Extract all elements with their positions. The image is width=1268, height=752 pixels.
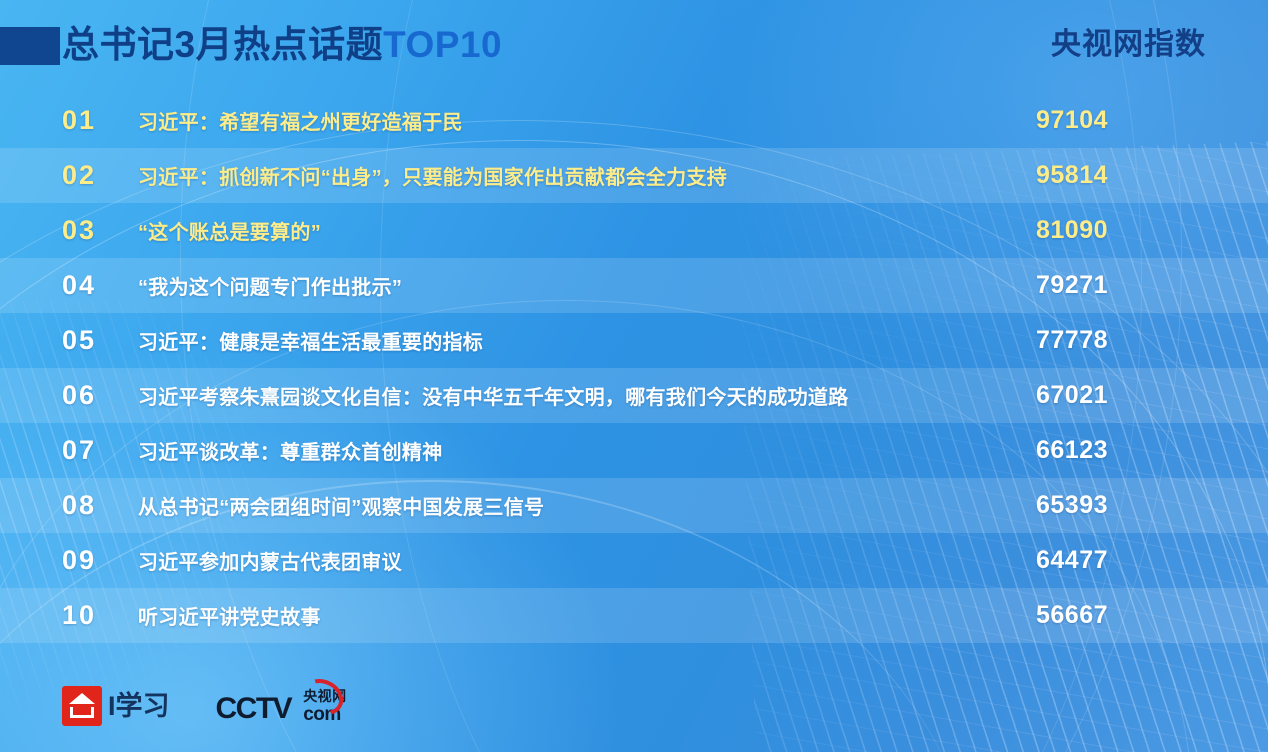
ranking-row[interactable]: 03“这个账总是要算的”81090 bbox=[0, 203, 1268, 258]
row-title[interactable]: 习近平：希望有福之州更好造福于民 bbox=[138, 106, 1036, 135]
row-index-value: 77778 bbox=[1036, 326, 1206, 355]
ranking-row[interactable]: 09习近平参加内蒙古代表团审议64477 bbox=[0, 533, 1268, 588]
row-rank: 07 bbox=[62, 435, 138, 466]
poster-header: 总书记3月热点话题TOP10 央视网指数 bbox=[0, 0, 1268, 88]
row-rank: 09 bbox=[62, 545, 138, 576]
ranking-row[interactable]: 02习近平：抓创新不问“出身”，只要能为国家作出贡献都会全力支持95814 bbox=[0, 148, 1268, 203]
page-title-top10: TOP10 bbox=[383, 24, 502, 65]
row-index-value: 56667 bbox=[1036, 601, 1206, 630]
page-title: 总书记3月热点话题TOP10 bbox=[62, 18, 502, 72]
row-title[interactable]: 听习近平讲党史故事 bbox=[138, 601, 1036, 630]
row-index-value: 79271 bbox=[1036, 271, 1206, 300]
metric-column-header: 央视网指数 bbox=[1051, 22, 1206, 68]
ranking-row[interactable]: 05习近平：健康是幸福生活最重要的指标77778 bbox=[0, 313, 1268, 368]
row-rank: 03 bbox=[62, 215, 138, 246]
row-rank: 06 bbox=[62, 380, 138, 411]
row-title[interactable]: “这个账总是要算的” bbox=[138, 216, 1036, 245]
page-title-cn: 总书记3月热点话题 bbox=[62, 24, 383, 65]
header-accent-block bbox=[0, 27, 60, 65]
ranking-row[interactable]: 10听习近平讲党史故事56667 bbox=[0, 588, 1268, 643]
xuexi-logo[interactable]: I学习 bbox=[62, 686, 170, 726]
ranking-row[interactable]: 07习近平谈改革：尊重群众首创精神66123 bbox=[0, 423, 1268, 478]
row-title[interactable]: 习近平参加内蒙古代表团审议 bbox=[138, 546, 1036, 575]
row-title[interactable]: 习近平：抓创新不问“出身”，只要能为国家作出贡献都会全力支持 bbox=[138, 161, 1036, 190]
row-index-value: 97104 bbox=[1036, 106, 1206, 135]
footer-logos: I学习 CCTV 央视网 com bbox=[62, 686, 347, 726]
row-title[interactable]: 习近平：健康是幸福生活最重要的指标 bbox=[138, 326, 1036, 355]
row-title[interactable]: 从总书记“两会团组时间”观察中国发展三信号 bbox=[138, 491, 1036, 520]
row-rank: 08 bbox=[62, 490, 138, 521]
row-title[interactable]: 习近平谈改革：尊重群众首创精神 bbox=[138, 436, 1036, 465]
infographic-poster: 总书记3月热点话题TOP10 央视网指数 01习近平：希望有福之州更好造福于民9… bbox=[0, 0, 1268, 752]
row-rank: 01 bbox=[62, 105, 138, 136]
row-rank: 02 bbox=[62, 160, 138, 191]
cctv-logo[interactable]: CCTV 央视网 com bbox=[216, 689, 347, 724]
cctv-wordmark: CCTV bbox=[216, 694, 292, 724]
row-index-value: 66123 bbox=[1036, 436, 1206, 465]
row-rank: 05 bbox=[62, 325, 138, 356]
row-index-value: 81090 bbox=[1036, 216, 1206, 245]
row-index-value: 64477 bbox=[1036, 546, 1206, 575]
row-rank: 10 bbox=[62, 600, 138, 631]
row-title[interactable]: 习近平考察朱熹园谈文化自信：没有中华五千年文明，哪有我们今天的成功道路 bbox=[138, 381, 1036, 410]
ranking-row[interactable]: 04“我为这个问题专门作出批示”79271 bbox=[0, 258, 1268, 313]
ranking-row[interactable]: 01习近平：希望有福之州更好造福于民97104 bbox=[0, 93, 1268, 148]
row-index-value: 65393 bbox=[1036, 491, 1206, 520]
row-rank: 04 bbox=[62, 270, 138, 301]
row-index-value: 67021 bbox=[1036, 381, 1206, 410]
xuexi-mark-icon bbox=[62, 686, 102, 726]
xuexi-logo-label: I学习 bbox=[108, 690, 170, 722]
row-index-value: 95814 bbox=[1036, 161, 1206, 190]
row-title[interactable]: “我为这个问题专门作出批示” bbox=[138, 271, 1036, 300]
ranking-row[interactable]: 08从总书记“两会团组时间”观察中国发展三信号65393 bbox=[0, 478, 1268, 533]
ranking-list: 01习近平：希望有福之州更好造福于民9710402习近平：抓创新不问“出身”，只… bbox=[0, 93, 1268, 643]
ranking-row[interactable]: 06习近平考察朱熹园谈文化自信：没有中华五千年文明，哪有我们今天的成功道路670… bbox=[0, 368, 1268, 423]
